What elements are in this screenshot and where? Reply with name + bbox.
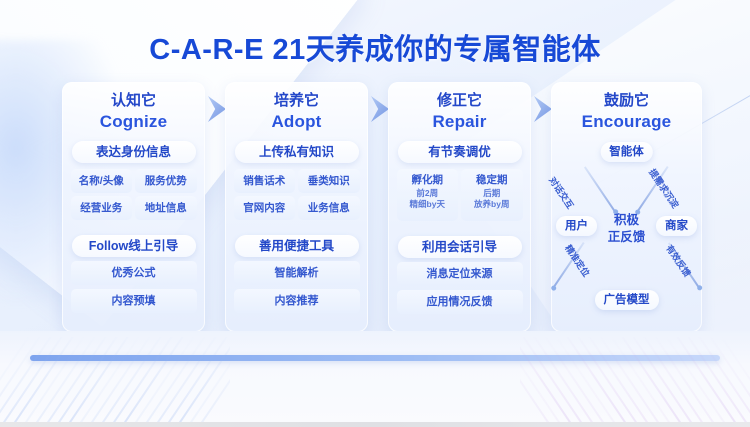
diagram-node-merchant[interactable]: 商家 <box>656 216 697 236</box>
phase-cell[interactable]: 稳定期 后期 放养by周 <box>461 169 523 221</box>
grid-cell[interactable]: 垂类知识 <box>298 169 360 193</box>
attribute-grid: 销售话术 垂类知识 官网内容 业务信息 <box>234 169 360 220</box>
attribute-grid: 名称/头像 服务优势 经营业务 地址信息 <box>71 169 197 220</box>
phase-grid: 孵化期 前2周 精细by天 稳定期 后期 放养by周 <box>397 169 523 221</box>
diagram-center-label: 积极 正反馈 <box>608 212 646 246</box>
spacer <box>62 220 205 228</box>
diagram-node-user[interactable]: 用户 <box>556 216 597 236</box>
phase-detail-2: 精细by天 <box>397 199 459 210</box>
grid-cell[interactable]: 地址信息 <box>135 196 197 220</box>
list-item[interactable]: 智能解析 <box>234 261 360 285</box>
columns-container: 认知它 Cognize 表达身份信息 名称/头像 服务优势 经营业务 地址信息 … <box>62 82 702 332</box>
spacer <box>388 221 531 229</box>
card-heading-en: Repair <box>388 111 531 134</box>
section-pill-primary[interactable]: 上传私有知识 <box>235 141 359 163</box>
center-label-line-2: 正反馈 <box>608 229 646 246</box>
card-heading-cn: 鼓励它 <box>604 92 649 109</box>
list-item[interactable]: 内容推荐 <box>234 289 360 313</box>
grid-cell[interactable]: 名称/头像 <box>71 169 133 193</box>
edge-top-left <box>584 167 617 214</box>
grid-cell[interactable]: 服务优势 <box>135 169 197 193</box>
card-heading-encourage: 鼓励它 Encourage <box>551 82 702 134</box>
feedback-loop-diagram: 对话交互 提需求沉淀 有效反馈 精准定位 智能体 用户 商家 广告模型 积极 正… <box>551 138 702 328</box>
grid-cell[interactable]: 经营业务 <box>71 196 133 220</box>
section-pill-secondary[interactable]: 利用会话引导 <box>398 236 522 258</box>
slide-canvas: C-A-R-E 21天养成你的专属智能体 认知它 Cognize 表达身份信息 … <box>0 0 750 427</box>
section-pill-secondary[interactable]: Follow线上引导 <box>72 235 196 257</box>
section-pill-secondary[interactable]: 善用便捷工具 <box>235 235 359 257</box>
card-heading-cn: 培养它 <box>274 92 319 109</box>
phase-title: 孵化期 <box>397 173 459 188</box>
section-pill-primary[interactable]: 表达身份信息 <box>72 141 196 163</box>
grid-cell[interactable]: 官网内容 <box>234 196 296 220</box>
card-repair[interactable]: 修正它 Repair 有节奏调优 孵化期 前2周 精细by天 稳定期 后期 放养… <box>388 82 531 332</box>
chevron-right-icon <box>208 96 226 122</box>
section-pill-primary[interactable]: 有节奏调优 <box>398 141 522 163</box>
card-heading-adopt: 培养它 Adopt <box>225 82 368 134</box>
phase-title: 稳定期 <box>461 173 523 188</box>
decorative-rays-left <box>0 337 230 427</box>
card-heading-en: Encourage <box>551 111 702 134</box>
card-encourage[interactable]: 鼓励它 Encourage 对话交互 提需求沉淀 有效反馈 精准定位 智能体 用… <box>551 82 702 332</box>
list-item[interactable]: 应用情况反馈 <box>397 290 523 314</box>
card-heading-cognize: 认知它 Cognize <box>62 82 205 134</box>
list-item[interactable]: 内容预填 <box>71 289 197 313</box>
card-heading-cn: 认知它 <box>111 92 156 109</box>
edge-label-top-left: 对话交互 <box>546 174 577 211</box>
slide-title: C-A-R-E 21天养成你的专属智能体 <box>0 26 750 68</box>
grid-cell[interactable]: 业务信息 <box>298 196 360 220</box>
phase-cell[interactable]: 孵化期 前2周 精细by天 <box>397 169 459 221</box>
card-cognize[interactable]: 认知它 Cognize 表达身份信息 名称/头像 服务优势 经营业务 地址信息 … <box>62 82 205 332</box>
card-heading-repair: 修正它 Repair <box>388 82 531 134</box>
list-item[interactable]: 优秀公式 <box>71 261 197 285</box>
chevron-right-icon <box>534 96 552 122</box>
phase-detail-1: 前2周 <box>397 188 459 199</box>
diagram-node-ad-model[interactable]: 广告模型 <box>595 290 659 310</box>
grid-cell[interactable]: 销售话术 <box>234 169 296 193</box>
phase-detail-1: 后期 <box>461 188 523 199</box>
spacer <box>225 220 368 228</box>
chevron-right-icon <box>371 96 389 122</box>
diagram-node-agent[interactable]: 智能体 <box>600 142 653 162</box>
edge-label-bottom-left: 精准定位 <box>562 242 593 279</box>
decorative-rays-right <box>520 337 750 427</box>
card-heading-en: Adopt <box>225 111 368 134</box>
card-heading-cn: 修正它 <box>437 92 482 109</box>
card-heading-en: Cognize <box>62 111 205 134</box>
footer-strip <box>0 422 750 427</box>
card-adopt[interactable]: 培养它 Adopt 上传私有知识 销售话术 垂类知识 官网内容 业务信息 善用便… <box>225 82 368 332</box>
edge-label-bottom-right: 有效反馈 <box>663 242 694 279</box>
list-item[interactable]: 消息定位来源 <box>397 262 523 286</box>
center-label-line-1: 积极 <box>608 212 646 229</box>
phase-detail-2: 放养by周 <box>461 199 523 210</box>
